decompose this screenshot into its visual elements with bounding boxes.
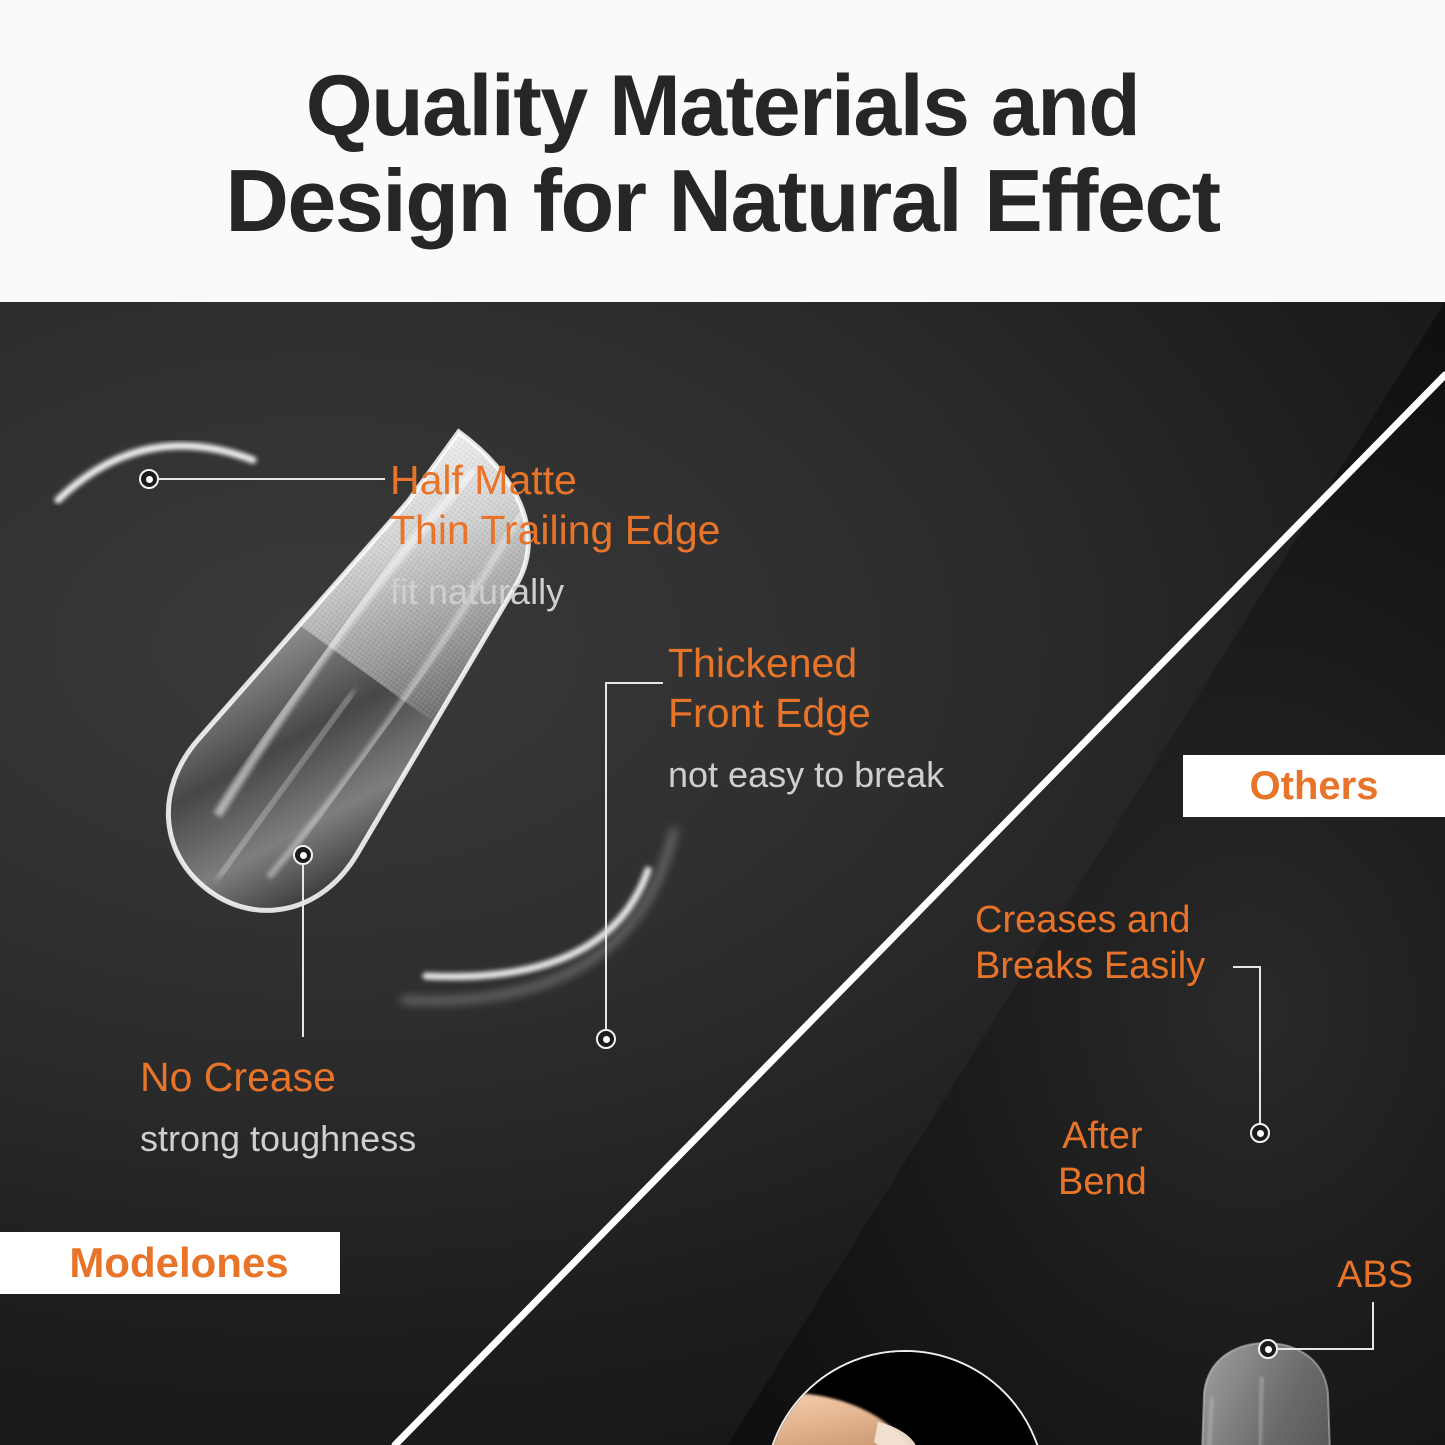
- leader-line-creases-h: [1233, 966, 1261, 968]
- leader-line-creases-v: [1259, 966, 1261, 1132]
- callout-half-matte-title-2: Thin Trailing Edge: [390, 505, 720, 555]
- callout-dot-icon-thickened: [596, 1029, 616, 1049]
- callout-creases-title-1: Creases and: [975, 897, 1205, 943]
- callout-thickened-title-2: Front Edge: [668, 688, 944, 738]
- others-side-background: [665, 302, 1445, 1445]
- callout-half-matte: Half Matte Thin Trailing Edge fit natura…: [390, 455, 720, 614]
- callout-thickened-subtitle: not easy to break: [668, 752, 944, 797]
- leader-line-thickened-v: [605, 682, 607, 1038]
- callout-creases-title-2: Breaks Easily: [975, 943, 1205, 989]
- leader-line-abs-h: [1277, 1348, 1374, 1350]
- brand-badge-modelones: Modelones: [0, 1232, 340, 1294]
- callout-no-crease: No Crease strong toughness: [140, 1052, 416, 1161]
- callout-thickened-title-1: Thickened: [668, 638, 944, 688]
- callout-half-matte-subtitle: fit naturally: [390, 569, 720, 614]
- callout-after-bend-title-1: After: [1058, 1113, 1147, 1159]
- callout-creases-breaks: Creases and Breaks Easily: [975, 897, 1205, 990]
- leader-line-no-crease: [302, 865, 304, 1037]
- infographic-page: Quality Materials and Design for Natural…: [0, 0, 1445, 1445]
- page-title-line-1: Quality Materials and: [306, 60, 1140, 153]
- callout-thickened-front-edge: Thickened Front Edge not easy to break: [668, 638, 944, 797]
- brand-badge-others-label: Others: [1250, 764, 1379, 809]
- callout-after-bend-title-2: Bend: [1058, 1159, 1147, 1205]
- page-title-line-2: Design for Natural Effect: [225, 153, 1219, 248]
- callout-dot-icon-half-matte: [139, 469, 159, 489]
- callout-dot-icon-abs: [1258, 1339, 1278, 1359]
- callout-after-bend: After Bend: [1058, 1113, 1147, 1206]
- callout-abs: ABS: [1337, 1252, 1413, 1298]
- header-banner: Quality Materials and Design for Natural…: [0, 0, 1445, 302]
- leader-line-half-matte: [159, 478, 385, 480]
- brand-badge-modelones-label: Modelones: [69, 1239, 288, 1287]
- callout-abs-title: ABS: [1337, 1252, 1413, 1298]
- callout-no-crease-title: No Crease: [140, 1052, 416, 1102]
- brand-badge-others: Others: [1183, 755, 1445, 817]
- leader-line-thickened-h: [605, 682, 663, 684]
- callout-dot-icon-creases: [1250, 1123, 1270, 1143]
- bottom-highlight-arc-1: [426, 870, 648, 977]
- callout-dot-icon-no-crease: [293, 845, 313, 865]
- callout-half-matte-title-1: Half Matte: [390, 455, 720, 505]
- callout-no-crease-subtitle: strong toughness: [140, 1116, 416, 1161]
- leader-line-abs-v: [1372, 1302, 1374, 1350]
